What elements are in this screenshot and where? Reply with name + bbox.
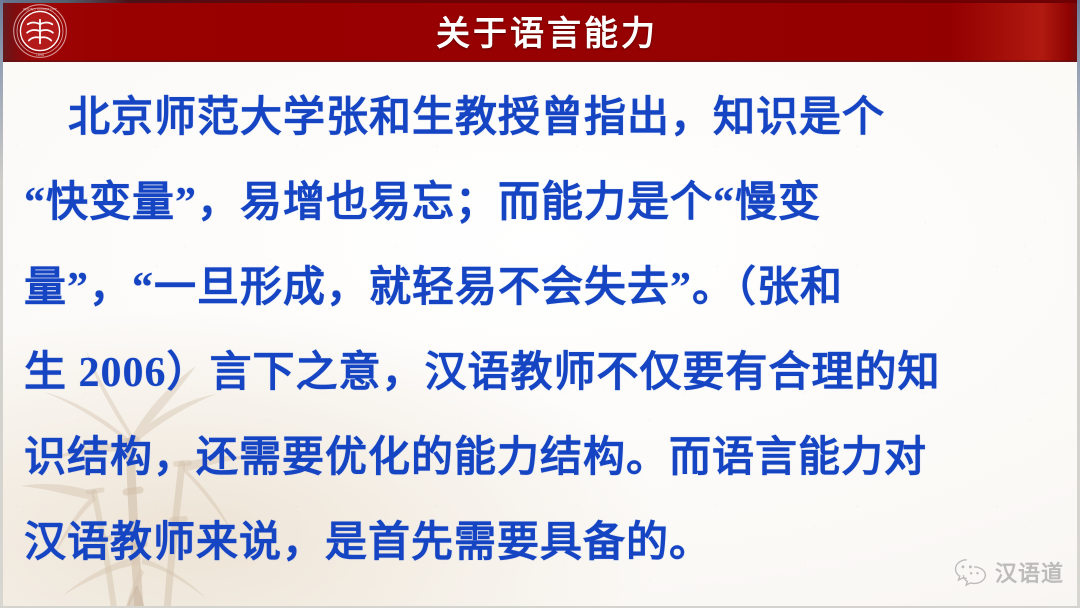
slide-header-banner: PEKING UNIVERSITY 1898 关于语言能力 bbox=[0, 0, 1080, 62]
body-line: 汉语教师来说，是首先需要具备的。 bbox=[24, 501, 1058, 586]
slide-frame-left bbox=[0, 0, 3, 608]
presentation-slide: PEKING UNIVERSITY 1898 关于语言能力 北京师范大学张和生教… bbox=[0, 0, 1080, 608]
body-line: 生 2006）言下之意，汉语教师不仅要有合理的知 bbox=[24, 331, 1058, 416]
body-line: 识结构，还需要优化的能力结构。而语言能力对 bbox=[24, 416, 1058, 501]
slide-body-text: 北京师范大学张和生教授曾指出，知识是个 “快变量”，易增也易忘；而能力是个“慢变… bbox=[24, 76, 1058, 602]
watermark-label: 汉语道 bbox=[995, 556, 1064, 588]
body-line: 量”，“一旦形成，就轻易不会失去”。（张和 bbox=[24, 246, 1058, 331]
wechat-icon bbox=[954, 557, 988, 587]
wechat-watermark: 汉语道 bbox=[954, 556, 1064, 588]
page-title: 关于语言能力 bbox=[0, 0, 1080, 60]
body-line: 北京师范大学张和生教授曾指出，知识是个 bbox=[24, 76, 1058, 161]
body-line: “快变量”，易增也易忘；而能力是个“慢变 bbox=[24, 161, 1058, 246]
header-bottom-accent-line bbox=[0, 60, 1080, 62]
